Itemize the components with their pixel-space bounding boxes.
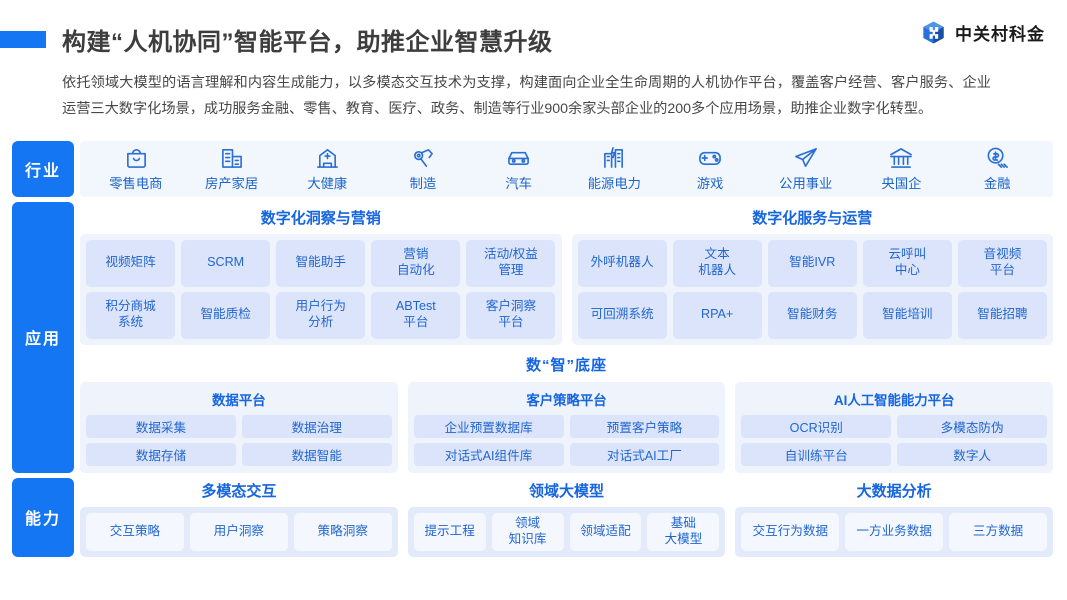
- industry-item[interactable]: 零售电商: [88, 146, 184, 192]
- application-band: 应用 数字化洞察与营销视频矩阵SCRM智能助手营销自动化活动/权益管理积分商城系…: [12, 202, 1053, 473]
- capability-tile[interactable]: 领域适配: [570, 513, 642, 551]
- base-columns: 数据平台数据采集数据治理数据存储数据智能客户策略平台企业预置数据库预置客户策略对…: [80, 382, 1053, 473]
- industry-item[interactable]: 央国企: [854, 146, 950, 192]
- industry-item-label: 金融: [984, 173, 1011, 192]
- base-cell[interactable]: 对话式AI工厂: [570, 443, 720, 466]
- capability-column-title: 大数据分析: [735, 478, 1053, 507]
- capability-band: 能力 多模态交互交互策略用户洞察策略洞察领域大模型提示工程领域知识库领域适配基础…: [12, 478, 1053, 557]
- description-paragraph: 依托领域大模型的语言理解和内容生成能力，以多模态交互技术为支撑，构建面向企业全生…: [62, 70, 991, 123]
- industry-band-label: 行业: [12, 141, 74, 197]
- base-column: 客户策略平台企业预置数据库预置客户策略对话式AI组件库对话式AI工厂: [408, 382, 726, 473]
- application-tile[interactable]: SCRM: [181, 240, 270, 287]
- application-tile-panel: 视频矩阵SCRM智能助手营销自动化活动/权益管理积分商城系统智能质检用户行为分析…: [80, 234, 562, 345]
- capability-tile-panel: 交互行为数据一方业务数据三方数据: [735, 507, 1053, 557]
- base-column: 数据平台数据采集数据治理数据存储数据智能: [80, 382, 398, 473]
- industry-item-label: 公用事业: [779, 173, 832, 192]
- gamepad-icon: [697, 146, 723, 170]
- application-band-label: 应用: [12, 202, 74, 473]
- industry-item-label: 央国企: [882, 173, 922, 192]
- capability-tile[interactable]: 基础大模型: [647, 513, 719, 551]
- capability-tile[interactable]: 领域知识库: [492, 513, 564, 551]
- brand-name: 中关村科金: [955, 20, 1045, 45]
- application-tile[interactable]: 客户洞察平台: [466, 292, 555, 339]
- shopping-bag-icon: [123, 146, 149, 170]
- capability-tile-panel: 交互策略用户洞察策略洞察: [80, 507, 398, 557]
- application-tile[interactable]: 智能招聘: [958, 292, 1047, 339]
- application-tile[interactable]: 可回溯系统: [578, 292, 667, 339]
- machine-arm-icon: [410, 146, 436, 170]
- application-tile[interactable]: 营销自动化: [371, 240, 460, 287]
- base-cell[interactable]: 企业预置数据库: [414, 415, 564, 438]
- capability-tile[interactable]: 一方业务数据: [845, 513, 943, 551]
- industry-item-label: 能源电力: [588, 173, 641, 192]
- industry-item-label: 游戏: [697, 173, 724, 192]
- header: 构建“人机协同”智能平台，助推企业智慧升级 中关村科金 依托领域大模型的语言理解…: [0, 0, 1067, 123]
- industry-item-label: 大健康: [307, 173, 347, 192]
- application-columns: 数字化洞察与营销视频矩阵SCRM智能助手营销自动化活动/权益管理积分商城系统智能…: [80, 202, 1053, 345]
- capability-columns: 多模态交互交互策略用户洞察策略洞察领域大模型提示工程领域知识库领域适配基础大模型…: [80, 478, 1053, 557]
- capability-column-title: 领域大模型: [408, 478, 726, 507]
- accent-bar-icon: [0, 31, 46, 48]
- capability-column: 大数据分析交互行为数据一方业务数据三方数据: [735, 478, 1053, 557]
- industry-item[interactable]: 汽车: [471, 146, 567, 192]
- building-chart-icon: [219, 146, 245, 170]
- application-tile[interactable]: 云呼叫中心: [863, 240, 952, 287]
- application-column-title: 数字化服务与运营: [572, 202, 1054, 234]
- application-tile[interactable]: 智能IVR: [768, 240, 857, 287]
- capability-tile[interactable]: 交互行为数据: [741, 513, 839, 551]
- application-tile[interactable]: 音视频平台: [958, 240, 1047, 287]
- capability-column: 多模态交互交互策略用户洞察策略洞察: [80, 478, 398, 557]
- car-icon: [506, 146, 532, 170]
- cube-logo-icon: [921, 20, 946, 45]
- base-cell[interactable]: 数据治理: [242, 415, 392, 438]
- application-tile[interactable]: 视频矩阵: [86, 240, 175, 287]
- base-cell[interactable]: 数据采集: [86, 415, 236, 438]
- application-tile[interactable]: 智能质检: [181, 292, 270, 339]
- capability-tile[interactable]: 提示工程: [414, 513, 486, 551]
- application-tile[interactable]: 外呼机器人: [578, 240, 667, 287]
- slide-root: 构建“人机协同”智能平台，助推企业智慧升级 中关村科金 依托领域大模型的语言理解…: [0, 0, 1067, 600]
- capability-tile[interactable]: 三方数据: [949, 513, 1047, 551]
- base-column: AI人工智能能力平台OCR识别多模态防伪自训练平台数字人: [735, 382, 1053, 473]
- application-tile[interactable]: ABTest平台: [371, 292, 460, 339]
- application-column: 数字化洞察与营销视频矩阵SCRM智能助手营销自动化活动/权益管理积分商城系统智能…: [80, 202, 562, 345]
- industry-item[interactable]: 公用事业: [758, 146, 854, 192]
- capability-band-label: 能力: [12, 478, 74, 557]
- industry-item[interactable]: 能源电力: [567, 146, 663, 192]
- industry-item-label: 零售电商: [109, 173, 162, 192]
- base-cell[interactable]: 多模态防伪: [897, 415, 1047, 438]
- tile-row: 可回溯系统RPA+智能财务智能培训智能招聘: [578, 292, 1048, 339]
- application-tile[interactable]: 积分商城系统: [86, 292, 175, 339]
- tile-row: 视频矩阵SCRM智能助手营销自动化活动/权益管理: [86, 240, 556, 287]
- architecture-matrix: 行业 零售电商房产家居大健康制造汽车能源电力游戏公用事业央国企金融 应用 数字化…: [12, 141, 1053, 557]
- industry-item[interactable]: 金融: [949, 146, 1045, 192]
- paper-plane-icon: [793, 146, 819, 170]
- capability-column: 领域大模型提示工程领域知识库领域适配基础大模型: [408, 478, 726, 557]
- base-column-title: 数据平台: [86, 387, 392, 415]
- brand-logo: 中关村科金: [921, 20, 1045, 45]
- capability-column-title: 多模态交互: [80, 478, 398, 507]
- industry-item[interactable]: 房产家居: [184, 146, 280, 192]
- industry-strip: 零售电商房产家居大健康制造汽车能源电力游戏公用事业央国企金融: [80, 141, 1053, 197]
- base-cell[interactable]: 数据存储: [86, 443, 236, 466]
- industry-band: 行业 零售电商房产家居大健康制造汽车能源电力游戏公用事业央国企金融: [12, 141, 1053, 197]
- base-row: 企业预置数据库预置客户策略: [414, 415, 720, 438]
- application-tile[interactable]: 智能助手: [276, 240, 365, 287]
- base-column-title: 客户策略平台: [414, 387, 720, 415]
- bank-icon: [888, 146, 914, 170]
- application-tile[interactable]: 智能培训: [863, 292, 952, 339]
- application-tile[interactable]: 智能财务: [768, 292, 857, 339]
- page-title: 构建“人机协同”智能平台，助推企业智慧升级: [62, 22, 553, 57]
- base-cell[interactable]: OCR识别: [741, 415, 891, 438]
- base-cell[interactable]: 对话式AI组件库: [414, 443, 564, 466]
- industry-item-label: 汽车: [505, 173, 532, 192]
- application-tile[interactable]: 用户行为分析: [276, 292, 365, 339]
- capability-tile[interactable]: 策略洞察: [294, 513, 392, 551]
- application-tile[interactable]: 活动/权益管理: [466, 240, 555, 287]
- base-cell[interactable]: 数字人: [897, 443, 1047, 466]
- base-cell[interactable]: 预置客户策略: [570, 415, 720, 438]
- base-cell[interactable]: 数据智能: [242, 443, 392, 466]
- finance-growth-icon: [984, 146, 1010, 170]
- application-tile[interactable]: RPA+: [673, 292, 762, 339]
- industry-item[interactable]: 大健康: [279, 146, 375, 192]
- industry-item[interactable]: 制造: [375, 146, 471, 192]
- base-row: OCR识别多模态防伪: [741, 415, 1047, 438]
- capability-tile[interactable]: 用户洞察: [190, 513, 288, 551]
- power-plant-icon: [601, 146, 627, 170]
- application-tile[interactable]: 文本机器人: [673, 240, 762, 287]
- application-tile-panel: 外呼机器人文本机器人智能IVR云呼叫中心音视频平台可回溯系统RPA+智能财务智能…: [572, 234, 1054, 345]
- hospital-icon: [314, 146, 340, 170]
- industry-item[interactable]: 游戏: [662, 146, 758, 192]
- industry-item-label: 制造: [410, 173, 437, 192]
- base-cell[interactable]: 自训练平台: [741, 443, 891, 466]
- base-row: 数据采集数据治理: [86, 415, 392, 438]
- capability-tile[interactable]: 交互策略: [86, 513, 184, 551]
- title-row: 构建“人机协同”智能平台，助推企业智慧升级: [0, 22, 1047, 56]
- industry-item-label: 房产家居: [205, 173, 258, 192]
- application-column-title: 数字化洞察与营销: [80, 202, 562, 234]
- application-column: 数字化服务与运营外呼机器人文本机器人智能IVR云呼叫中心音视频平台可回溯系统RP…: [572, 202, 1054, 345]
- tile-row: 积分商城系统智能质检用户行为分析ABTest平台客户洞察平台: [86, 292, 556, 339]
- base-column-title: AI人工智能能力平台: [741, 387, 1047, 415]
- base-row: 数据存储数据智能: [86, 443, 392, 466]
- base-row: 对话式AI组件库对话式AI工厂: [414, 443, 720, 466]
- capability-tile-panel: 提示工程领域知识库领域适配基础大模型: [408, 507, 726, 557]
- tile-row: 外呼机器人文本机器人智能IVR云呼叫中心音视频平台: [578, 240, 1048, 287]
- base-section-title: 数“智”底座: [80, 345, 1053, 382]
- base-row: 自训练平台数字人: [741, 443, 1047, 466]
